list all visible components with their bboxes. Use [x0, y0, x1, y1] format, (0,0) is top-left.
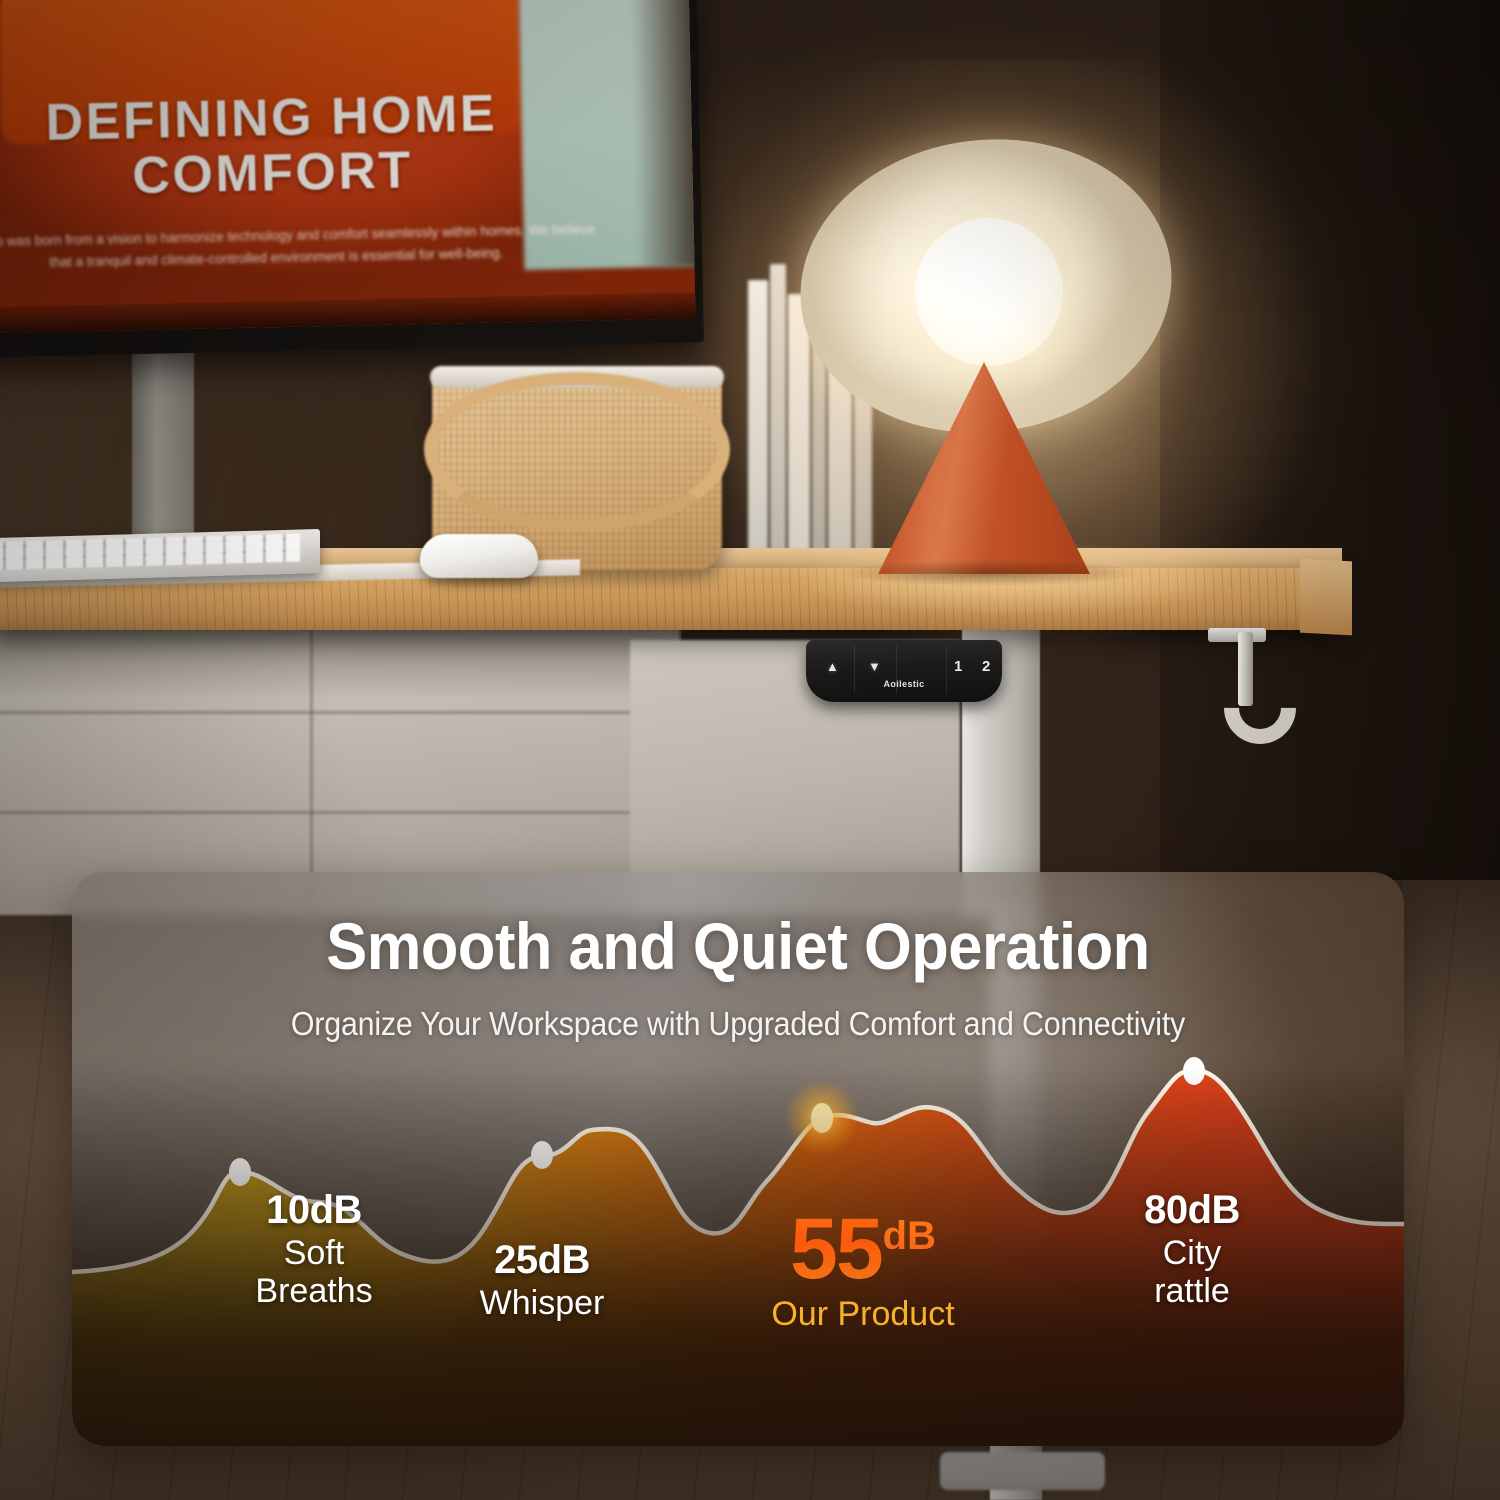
- screen-body-text: Thermo was born from a vision to harmoni…: [0, 218, 596, 276]
- lower-desk-down-icon[interactable]: ▼: [868, 660, 881, 673]
- highlight-caption: Our Product: [698, 1295, 1028, 1334]
- monitor-stand-neck: [132, 348, 194, 560]
- screen-right-shadow: [630, 0, 696, 268]
- label-whisper-name1: Whisper: [402, 1284, 682, 1323]
- data-point-25db: [531, 1141, 553, 1169]
- screen-headline: DEFINING HOME COMFORT: [0, 84, 603, 208]
- info-panel: Smooth and Quiet Operation Organize Your…: [72, 872, 1404, 1446]
- preset-2-button[interactable]: 2: [982, 659, 990, 674]
- product-marketing-image: DEFINING HOME COMFORT Thermo was born fr…: [0, 0, 1500, 1500]
- cabinet-shadow: [0, 615, 680, 915]
- lamp-cast-shadow: [840, 560, 1140, 586]
- preset-1-button[interactable]: 1: [954, 659, 962, 674]
- highlight-value: 55: [790, 1210, 882, 1289]
- label-city-rattle-db: 80dB: [1052, 1188, 1332, 1234]
- label-whisper-db: 25dB: [402, 1238, 682, 1284]
- label-city-rattle-name2: rattle: [1052, 1272, 1332, 1311]
- mouse: [420, 534, 538, 578]
- label-whisper: 25dB Whisper: [402, 1238, 682, 1322]
- desk-height-controller[interactable]: ▲ ▼ 1 2 Aoilestic: [806, 640, 1002, 702]
- page-subtitle: Organize Your Workspace with Upgraded Co…: [125, 1005, 1350, 1043]
- label-city-rattle: 80dB City rattle: [1052, 1188, 1332, 1311]
- data-point-80db: [1183, 1057, 1205, 1085]
- data-point-10db: [229, 1158, 251, 1186]
- wall-shadow-right: [1160, 0, 1500, 905]
- highlight-unit: dB: [883, 1216, 936, 1256]
- keyboard-keys: [0, 534, 300, 571]
- basket-handle: [424, 372, 730, 532]
- controller-brand-label: Aoilestic: [806, 679, 1002, 689]
- raise-desk-up-icon[interactable]: ▲: [826, 660, 839, 673]
- our-product-highlight: 55dB Our Product: [698, 1210, 1028, 1334]
- desk-leg-foot: [940, 1452, 1105, 1490]
- label-city-rattle-name1: City: [1052, 1234, 1332, 1273]
- data-point-55db: [811, 1103, 833, 1133]
- label-soft-breaths-db: 10dB: [174, 1188, 454, 1234]
- desktop-right-end: [1300, 559, 1352, 636]
- page-title: Smooth and Quiet Operation: [119, 908, 1358, 984]
- lamp-bulb: [915, 218, 1063, 366]
- headphone-hook-arm: [1208, 628, 1266, 642]
- monitor-screen: DEFINING HOME COMFORT Thermo was born fr…: [0, 0, 696, 334]
